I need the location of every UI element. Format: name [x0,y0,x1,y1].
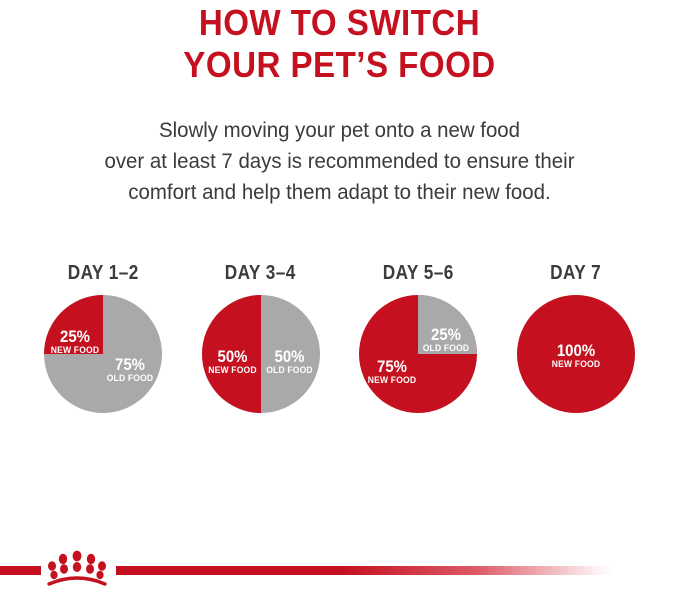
pie-graphic-day-3-4: 50% NEW FOOD 50% OLD FOOD [202,295,320,413]
intro-line2: over at least 7 days is recommended to e… [17,146,662,177]
pie-chart-day-5-6: DAY 5–6 25% OLD FOOD 75% NEW FOOD [343,262,493,442]
infographic-page: HOW TO SWITCH YOUR PET’S FOOD Slowly mov… [0,0,679,594]
day-label-3-4: DAY 3–4 [225,262,296,285]
footer [0,542,679,594]
pie-slice-old-food [418,295,477,354]
pie-graphic-day-1-2: 25% NEW FOOD 75% OLD FOOD [44,295,162,413]
pie-chart-day-7: DAY 7 100% NEW FOOD [501,262,651,442]
pie-graphic-day-7: 100% NEW FOOD [517,295,635,413]
pie-slice-new-food [202,295,261,413]
page-title-line1: HOW TO SWITCH [27,2,652,44]
day-label-7: DAY 7 [551,262,602,285]
pie-slice-new-food [517,295,635,413]
pie-graphic-day-5-6: 25% OLD FOOD 75% NEW FOOD [359,295,477,413]
page-title-line2: YOUR PET’S FOOD [27,44,652,86]
footer-rule-left [0,566,41,575]
page-title: HOW TO SWITCH YOUR PET’S FOOD [27,2,652,86]
crown-logo [42,550,112,586]
day-label-1-2: DAY 1–2 [68,262,139,285]
pie-chart-day-1-2: DAY 1–2 25% NEW FOOD 75% OLD FOOD [28,262,178,442]
day-label-5-6: DAY 5–6 [383,262,454,285]
pie-slice-new-food [44,295,103,354]
pie-chart-day-3-4: DAY 3–4 50% NEW FOOD 50% OLD FOOD [186,262,336,442]
footer-rule-right [116,566,616,575]
intro-paragraph: Slowly moving your pet onto a new food o… [17,115,662,208]
pie-chart-row: DAY 1–2 25% NEW FOOD 75% OLD FOOD DAY 3–… [0,262,679,442]
intro-line3: comfort and help them adapt to their new… [17,177,662,208]
intro-line1: Slowly moving your pet onto a new food [17,115,662,146]
